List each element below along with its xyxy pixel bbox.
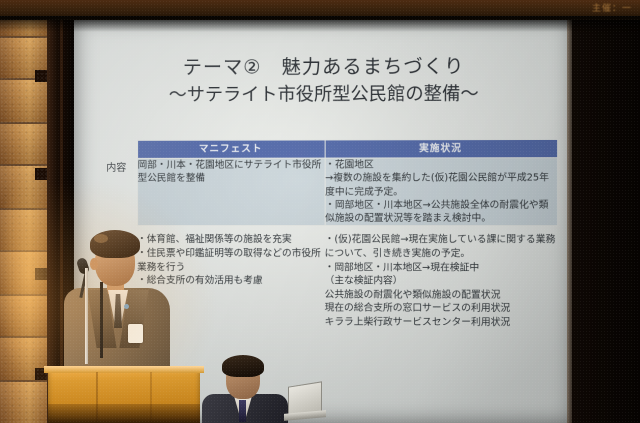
stone-wall xyxy=(0,0,47,423)
table-header-blank xyxy=(96,140,137,158)
presenter-lapel-pin xyxy=(124,304,129,309)
status-line-1a: ・花園地区 xyxy=(325,158,556,172)
cell-manifesto-1: 岡部・川本・花園地区にサテライト市役所型公民館を整備 xyxy=(137,158,325,226)
status-line-2f: キララ上柴行政サービスセンター利用状況 xyxy=(325,316,557,330)
presenter-name-badge xyxy=(128,324,143,343)
attendee-hair xyxy=(222,355,264,377)
slide-title-line2: ～サテライト市役所型公民館の整備～ xyxy=(74,81,576,108)
seated-attendee xyxy=(196,356,328,423)
status-line-2e: 現在の総合支所の窓口サービスの利用状況 xyxy=(325,302,557,316)
slide-title: テーマ② 魅力あるまちづくり ～サテライト市役所型公民館の整備～ xyxy=(74,54,576,108)
slide-title-line1: テーマ② 魅力あるまちづくり xyxy=(183,55,465,78)
table-header-row: マニフェスト 実施状況 xyxy=(96,139,557,158)
table-row: 内容 岡部・川本・花園地区にサテライト市役所型公民館を整備 ・花園地区 →複数の… xyxy=(96,158,557,226)
venue-banner-text: 主催：一 xyxy=(592,1,632,14)
status-line-1b: →複数の施設を集約した(仮)花園公民館が平成25年度中に完成予定。 xyxy=(325,172,556,199)
presenter-hair xyxy=(90,230,140,258)
podium-shadow xyxy=(48,404,200,423)
banner-shadow xyxy=(0,16,640,32)
attendee-tie xyxy=(239,400,246,422)
presenter-ear xyxy=(90,258,98,270)
podium-top-edge xyxy=(44,366,204,373)
table-header-status: 実施状況 xyxy=(325,139,557,158)
status-line-2a: ・(仮)花園公民館→現在実施している課に関する業務について、引き続き実施の予定。 xyxy=(325,234,557,262)
cell-status-1: ・花園地区 →複数の施設を集約した(仮)花園公民館が平成25年度中に完成予定。 … xyxy=(325,158,557,226)
row-label-content: 内容 xyxy=(96,158,137,226)
cell-status-2: ・(仮)花園公民館→現在実施している課に関する業務について、引き続き実施の予定。… xyxy=(325,234,557,330)
table-header-manifesto: マニフェスト xyxy=(137,140,325,158)
right-dark-frame xyxy=(572,0,640,423)
status-line-2b: ・岡部地区・川本地区→現在検証中 xyxy=(325,261,557,275)
status-line-1c: ・岡部地区・川本地区→公共施設全体の耐震化や類似施設の配置状況等を踏まえ検討中。 xyxy=(325,199,556,226)
photo-scene: テーマ② 魅力あるまちづくり ～サテライト市役所型公民館の整備～ マニフェスト … xyxy=(0,0,640,423)
gap-status xyxy=(325,226,557,234)
microphone-stand xyxy=(85,268,88,364)
status-line-2d: 公共施設の耐震化や類似施設の配置状況 xyxy=(325,288,557,302)
manifesto-text-1: 岡部・川本・花園地区にサテライト市役所型公民館を整備 xyxy=(138,159,325,186)
status-line-2c: （主な検証内容） xyxy=(325,275,557,289)
microphone-cable xyxy=(100,282,103,358)
